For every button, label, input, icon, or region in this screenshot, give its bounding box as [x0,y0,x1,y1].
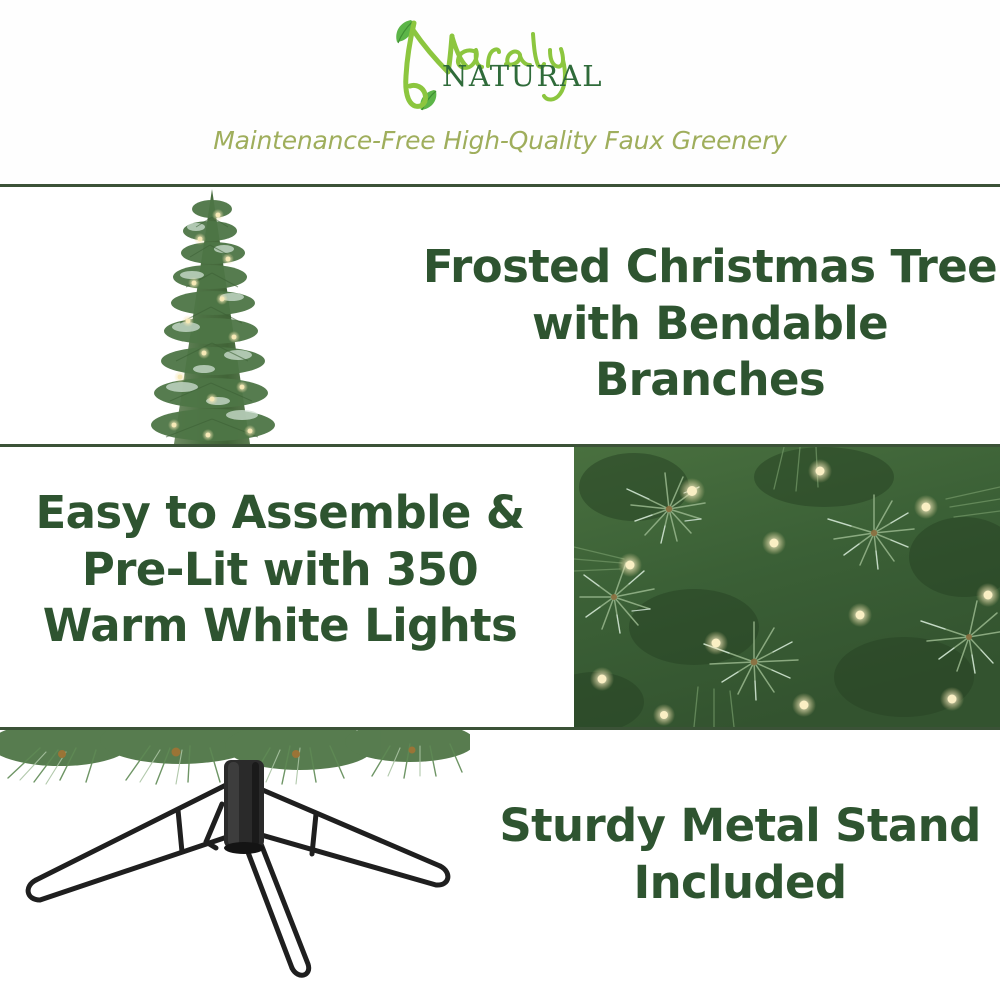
brand-logo: NATURAL [0,6,1000,114]
feature-heading-bendable-branches: Frosted Christmas Tree with Bendable Bra… [420,239,1000,409]
feature-line-2: Pre-Lit with 350 [10,542,550,599]
photo-full-tree [100,187,330,444]
feature-row-bendable-branches: Frosted Christmas Tree with Bendable Bra… [0,187,1000,444]
photo-metal-stand [0,730,470,983]
feature-line-1: Frosted Christmas Tree [420,239,1000,296]
product-infographic: NATURAL Maintenance-Free High-Quality Fa… [0,0,1000,1000]
feature-line-2: Included [480,855,1000,912]
feature-line-2: with Bendable Branches [420,296,1000,409]
feature-line-1: Sturdy Metal Stand [480,798,1000,855]
brand-header: NATURAL Maintenance-Free High-Quality Fa… [0,0,1000,186]
feature-heading-metal-stand: Sturdy Metal Stand Included [480,798,1000,911]
nearly-natural-logo-mark: NATURAL [380,6,620,116]
stand-pole-sleeve [224,760,264,854]
feature-line-3: Warm White Lights [10,598,550,655]
feature-row-pre-lit: Easy to Assemble & Pre-Lit with 350 Warm… [0,447,1000,727]
photo-needle-closeup [574,447,1000,727]
feature-heading-pre-lit: Easy to Assemble & Pre-Lit with 350 Warm… [10,485,550,655]
brand-tagline: Maintenance-Free High-Quality Faux Green… [0,126,1000,155]
feature-line-1: Easy to Assemble & [10,485,550,542]
wordmark-text: NATURAL [442,59,603,93]
feature-row-metal-stand: Sturdy Metal Stand Included [0,730,1000,1000]
